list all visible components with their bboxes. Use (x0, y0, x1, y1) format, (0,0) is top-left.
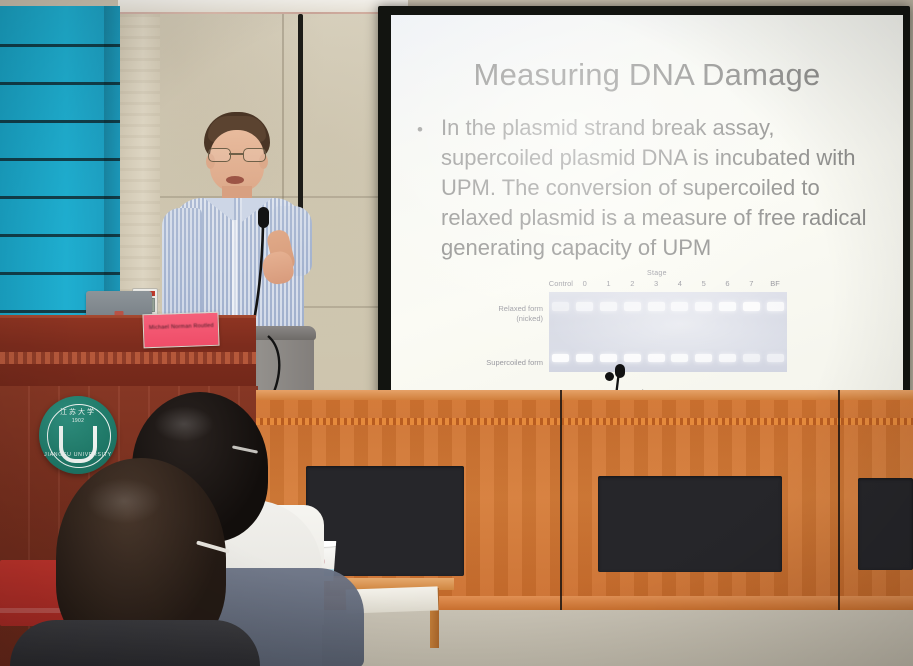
gel-lane-label: 6 (725, 279, 729, 288)
gel-band (719, 302, 736, 311)
gel-band (767, 354, 784, 362)
gel-electrophoresis-figure: Stage Control01234567BF Relaxed form (ni… (479, 270, 789, 378)
gel-band (624, 302, 641, 311)
gel-row-label-relaxed: Relaxed form (nicked) (479, 304, 543, 324)
gel-lane-label: 5 (702, 279, 706, 288)
bench-panel (598, 476, 782, 572)
bench-beaded-trim (256, 418, 913, 425)
university-seal: 江苏大学 1902 JIANGSU UNIVERSITY (39, 396, 117, 474)
gel-pointer-dot (605, 372, 614, 381)
gel-image (549, 292, 787, 372)
gel-band (576, 302, 593, 311)
eyeglasses-icon (208, 148, 266, 160)
gel-band (552, 354, 569, 362)
desk-microphone-icon (615, 364, 625, 378)
gel-band (743, 302, 760, 311)
bench-seam (838, 390, 840, 612)
gel-lane-label: 3 (654, 279, 658, 288)
slide-bullet-text: In the plasmid strand break assay, super… (441, 113, 885, 263)
slide-title: Measuring DNA Damage (391, 57, 903, 93)
gel-band (719, 354, 736, 362)
gel-lane-label: Control (549, 279, 573, 288)
gel-band (600, 302, 617, 311)
gel-row-label-supercoiled: Supercoiled form (479, 358, 543, 368)
gel-band (624, 354, 641, 362)
lecture-hall-photo: Measuring DNA Damage • In the plasmid st… (0, 0, 913, 666)
gel-band (671, 302, 688, 311)
gel-lane-labels: Control01234567BF (549, 279, 789, 290)
name-card-text: Michael Norman Routledge (149, 323, 214, 331)
attendee-front-shoulders (10, 620, 260, 666)
gel-lane-label: 7 (749, 279, 753, 288)
gel-band (648, 302, 665, 311)
gel-band (695, 302, 712, 311)
gel-lane-label: 2 (630, 279, 634, 288)
gel-band (600, 354, 617, 362)
name-card: Michael Norman Routledge (142, 312, 219, 349)
projection-screen: Measuring DNA Damage • In the plasmid st… (391, 15, 903, 403)
seal-english-name: JIANGSU UNIVERSITY (39, 452, 117, 458)
gel-band (576, 354, 593, 362)
presenter-arm-left (162, 208, 202, 328)
gel-band (671, 354, 688, 362)
gel-band (552, 302, 569, 311)
seal-year: 1902 (72, 418, 84, 424)
gel-band (743, 354, 760, 362)
gel-band (767, 302, 784, 311)
bullet-marker: • (417, 115, 423, 145)
microphone-icon (258, 207, 269, 228)
speaker-desk-trim (0, 352, 256, 364)
bench-panel (858, 478, 913, 570)
gel-lane-label: 0 (583, 279, 587, 288)
gel-lane-label: BF (770, 279, 780, 288)
presenter-mouth (226, 176, 244, 184)
bench-top-cap (256, 390, 913, 400)
gel-lane-label: 1 (606, 279, 610, 288)
gel-stage-header: Stage (647, 270, 667, 277)
seal-chinese-name: 江苏大学 (60, 407, 96, 417)
bench-seam (560, 390, 562, 612)
gel-lane-label: 4 (678, 279, 682, 288)
gel-band (695, 354, 712, 362)
gel-band (648, 354, 665, 362)
slide-bullet-list: • In the plasmid strand break assay, sup… (415, 113, 885, 263)
